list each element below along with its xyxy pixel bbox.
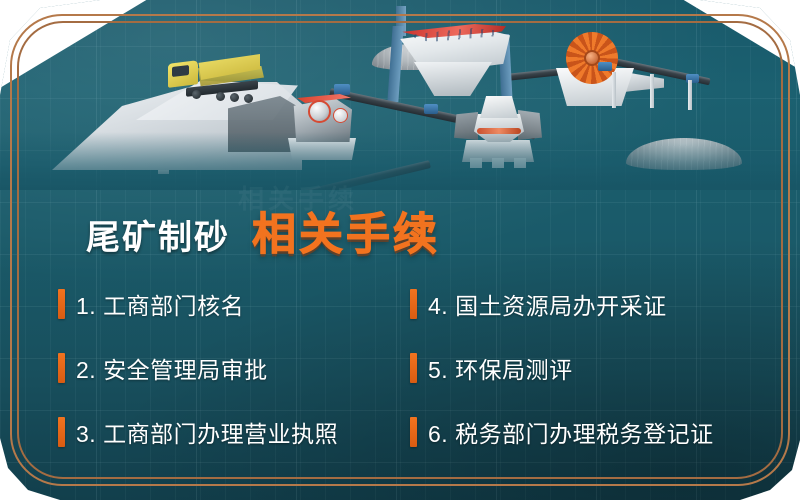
conveyor-leg-7 [688,80,692,110]
machinery-scene [0,0,800,190]
bullet-bar-icon [58,417,65,447]
procedure-list: 1. 工商部门核名 4. 国土资源局办开采证 2. 安全管理局审批 5. 环保局… [58,272,748,464]
bullet-bar-icon [410,417,417,447]
list-item: 1. 工商部门核名 [58,272,410,336]
conveyor-head-pulley-a [334,84,350,95]
conveyor-leg-5 [612,72,616,108]
conveyor-leg-6 [650,74,654,108]
headline-accent: 相关手续 [252,198,440,262]
list-item: 6. 税务部门办理税务登记证 [410,400,748,464]
poster-root: 相关手续 尾矿制砂 相关手续 1. 工商部门核名 4. 国土资源局办开采证 2.… [0,0,800,500]
dump-truck-window [172,65,189,77]
list-item-text: 6. 税务部门办理税务登记证 [428,415,714,449]
list-item: 2. 安全管理局审批 [58,336,410,400]
list-item: 5. 环保局测评 [410,336,748,400]
dump-truck-wheel-3 [230,93,239,102]
vibrating-screen-hopper [414,62,492,96]
list-item: 3. 工商部门办理营业执照 [58,400,410,464]
list-item: 4. 国土资源局办开采证 [410,272,748,336]
dump-truck-wheel-2 [216,92,225,101]
headline: 尾矿制砂 相关手续 [86,198,440,262]
list-item-text: 5. 环保局测评 [428,351,573,385]
jaw-crusher-flywheel-large [308,100,331,123]
list-item-text: 3. 工商部门办理营业执照 [76,415,338,449]
bullet-bar-icon [58,289,65,319]
dump-truck-wheel-4 [244,94,253,103]
list-item-text: 1. 工商部门核名 [76,287,244,321]
poster-plaque: 相关手续 尾矿制砂 相关手续 1. 工商部门核名 4. 国土资源局办开采证 2.… [0,0,800,500]
bullet-bar-icon [58,353,65,383]
list-item-text: 2. 安全管理局审批 [76,351,268,385]
bullet-bar-icon [410,289,417,319]
conveyor-head-pulley-b [424,104,438,114]
headline-primary: 尾矿制砂 [86,210,230,259]
list-item-text: 4. 国土资源局办开采证 [428,287,667,321]
bullet-bar-icon [410,353,417,383]
dump-truck-wheel-1 [192,90,201,99]
vsi-crusher-feed-tube [480,96,518,118]
conveyor-head-pulley-c [598,62,612,71]
jaw-crusher-flywheel-small [333,108,348,123]
